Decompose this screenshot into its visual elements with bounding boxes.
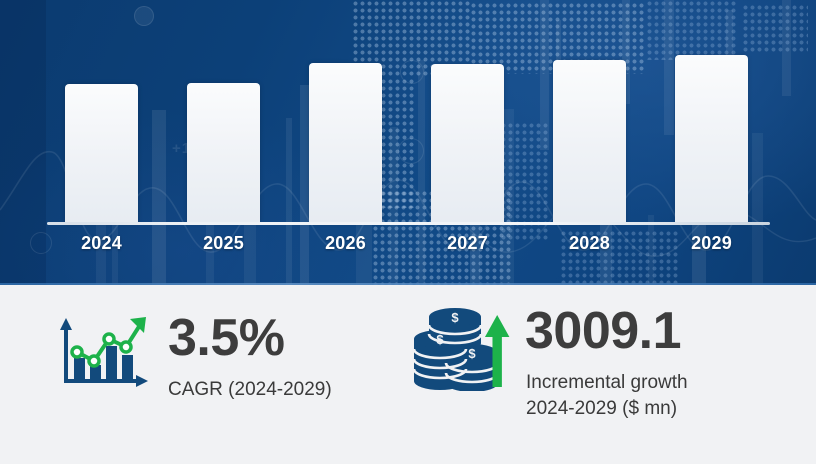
bar-2024: [65, 84, 138, 223]
axis-label-2029: 2029: [675, 233, 748, 254]
bar-2029: [675, 55, 748, 223]
bar-2028: [553, 60, 626, 223]
bar-chart: 2024 2025 2026 2027 2028 2029: [0, 0, 816, 285]
bar-2026: [309, 63, 382, 223]
growth-chart-icon: [52, 313, 152, 395]
axis-label-2025: 2025: [187, 233, 260, 254]
axis-label-2028: 2028: [553, 233, 626, 254]
cagr-value: 3.5%: [168, 312, 285, 364]
svg-text:$: $: [436, 332, 444, 347]
axis-label-2027: 2027: [431, 233, 504, 254]
cagr-caption: CAGR (2024-2029): [168, 378, 332, 402]
svg-text:$: $: [451, 310, 459, 325]
incremental-growth-value: 3009.1: [525, 305, 681, 357]
svg-text:$: $: [468, 346, 476, 361]
axis-label-2026: 2026: [309, 233, 382, 254]
incremental-growth-caption-line2: 2024-2029 ($ mn): [526, 397, 677, 421]
chart-panel: +1.08% 2024 2025 2026 2027 2028 2029: [0, 0, 816, 285]
coins-stack-icon: $ $ $: [412, 307, 510, 391]
chart-axis-line: [47, 222, 770, 225]
stat-incremental-growth: $ $ $ 3009.1 Incremental growth 2024-202…: [400, 285, 816, 464]
growth-chart-icon-svg: [52, 313, 152, 395]
axis-label-2024: 2024: [65, 233, 138, 254]
stat-cagr: 3.5% CAGR (2024-2029): [0, 285, 400, 464]
bar-2027: [431, 64, 504, 223]
bar-2025: [187, 83, 260, 223]
market-size-infographic: +1.08% 2024 2025 2026 2027 2028 2029: [0, 0, 816, 464]
coins-stack-icon-svg: $ $ $: [412, 307, 510, 391]
incremental-growth-caption-line1: Incremental growth: [526, 371, 688, 395]
stats-panel: 3.5% CAGR (2024-2029): [0, 285, 816, 464]
